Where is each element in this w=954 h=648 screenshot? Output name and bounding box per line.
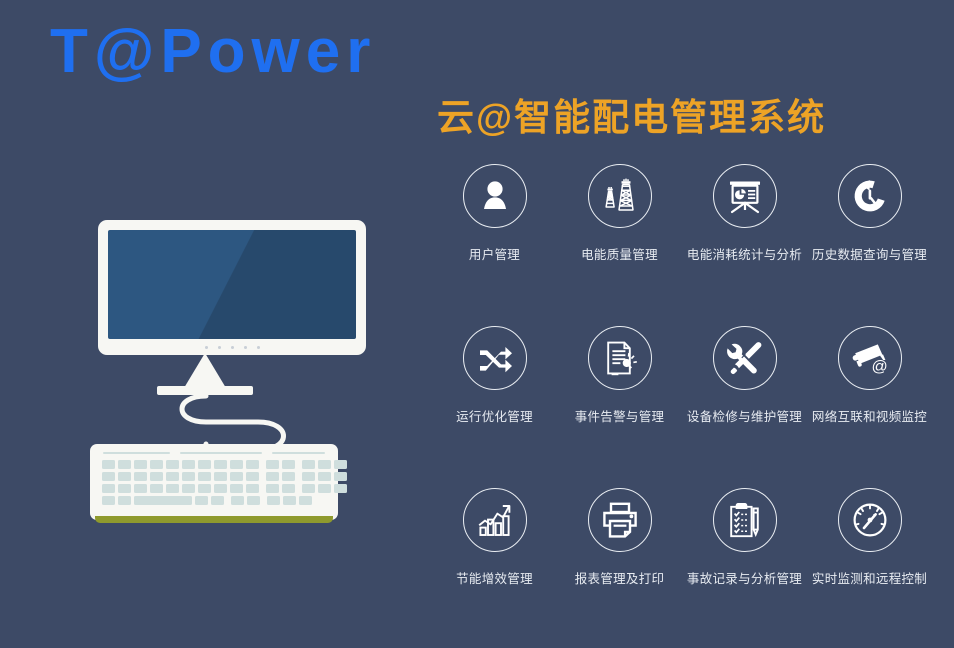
feature-grid: 用户管理 bbox=[432, 164, 932, 587]
feature-label: 运行优化管理 bbox=[456, 406, 533, 425]
user-icon[interactable] bbox=[463, 164, 527, 228]
feature-label: 设备检修与维护管理 bbox=[687, 406, 802, 425]
feature-label: 用户管理 bbox=[469, 244, 520, 263]
monitor-stand-base bbox=[157, 386, 253, 395]
page-subtitle: 云@智能配电管理系统 bbox=[437, 98, 826, 139]
feature-item[interactable]: 历史数据查询与管理 bbox=[807, 164, 932, 263]
feature-label: 网络互联和视频监控 bbox=[812, 406, 927, 425]
monitor-screen bbox=[108, 230, 356, 339]
svg-text:@: @ bbox=[871, 358, 887, 375]
feature-item[interactable]: 实时监测和远程控制 bbox=[807, 488, 932, 587]
feature-label: 电能消耗统计与分析 bbox=[687, 244, 802, 263]
gauge-meter-icon[interactable] bbox=[838, 488, 902, 552]
wrench-screwdriver-icon[interactable] bbox=[713, 326, 777, 390]
growth-bar-chart-icon[interactable] bbox=[463, 488, 527, 552]
feature-label: 实时监测和远程控制 bbox=[812, 568, 927, 587]
printer-icon[interactable] bbox=[588, 488, 652, 552]
feature-label: 历史数据查询与管理 bbox=[812, 244, 927, 263]
monitor-indicator-dots bbox=[98, 346, 366, 349]
poster-canvas: T@Power 云@智能配电管理系统 bbox=[0, 0, 954, 648]
keyboard-top-strips bbox=[103, 452, 325, 454]
feature-label: 报表管理及打印 bbox=[575, 568, 665, 587]
feature-item[interactable]: 事故记录与分析管理 bbox=[682, 488, 807, 587]
desktop-computer-illustration bbox=[78, 196, 388, 556]
feature-item[interactable]: 设备检修与维护管理 bbox=[682, 326, 807, 425]
feature-item[interactable]: 用户管理 bbox=[432, 164, 557, 263]
feature-item[interactable]: 电能质量管理 bbox=[557, 164, 682, 263]
history-clock-icon[interactable] bbox=[838, 164, 902, 228]
shuffle-arrows-icon[interactable] bbox=[463, 326, 527, 390]
keyboard bbox=[90, 444, 338, 520]
power-tower-icon[interactable] bbox=[588, 164, 652, 228]
feature-item[interactable]: 电能消耗统计与分析 bbox=[682, 164, 807, 263]
feature-label: 节能增效管理 bbox=[456, 568, 533, 587]
page-title: T@Power bbox=[50, 18, 376, 86]
feature-label: 事件告警与管理 bbox=[575, 406, 665, 425]
keyboard-keys bbox=[102, 460, 328, 508]
feature-label: 事故记录与分析管理 bbox=[687, 568, 802, 587]
keyboard-base-accent bbox=[95, 516, 333, 523]
feature-label: 电能质量管理 bbox=[581, 244, 658, 263]
clipboard-checklist-pen-icon[interactable] bbox=[713, 488, 777, 552]
presentation-chart-icon[interactable] bbox=[713, 164, 777, 228]
document-alert-icon[interactable] bbox=[588, 326, 652, 390]
feature-item[interactable]: 报表管理及打印 bbox=[557, 488, 682, 587]
feature-item[interactable]: @ 网络互联和视频监控 bbox=[807, 326, 932, 425]
cctv-camera-at-icon[interactable]: @ bbox=[838, 326, 902, 390]
monitor-bezel bbox=[98, 220, 366, 355]
feature-item[interactable]: 运行优化管理 bbox=[432, 326, 557, 425]
feature-item[interactable]: 节能增效管理 bbox=[432, 488, 557, 587]
feature-item[interactable]: 事件告警与管理 bbox=[557, 326, 682, 425]
